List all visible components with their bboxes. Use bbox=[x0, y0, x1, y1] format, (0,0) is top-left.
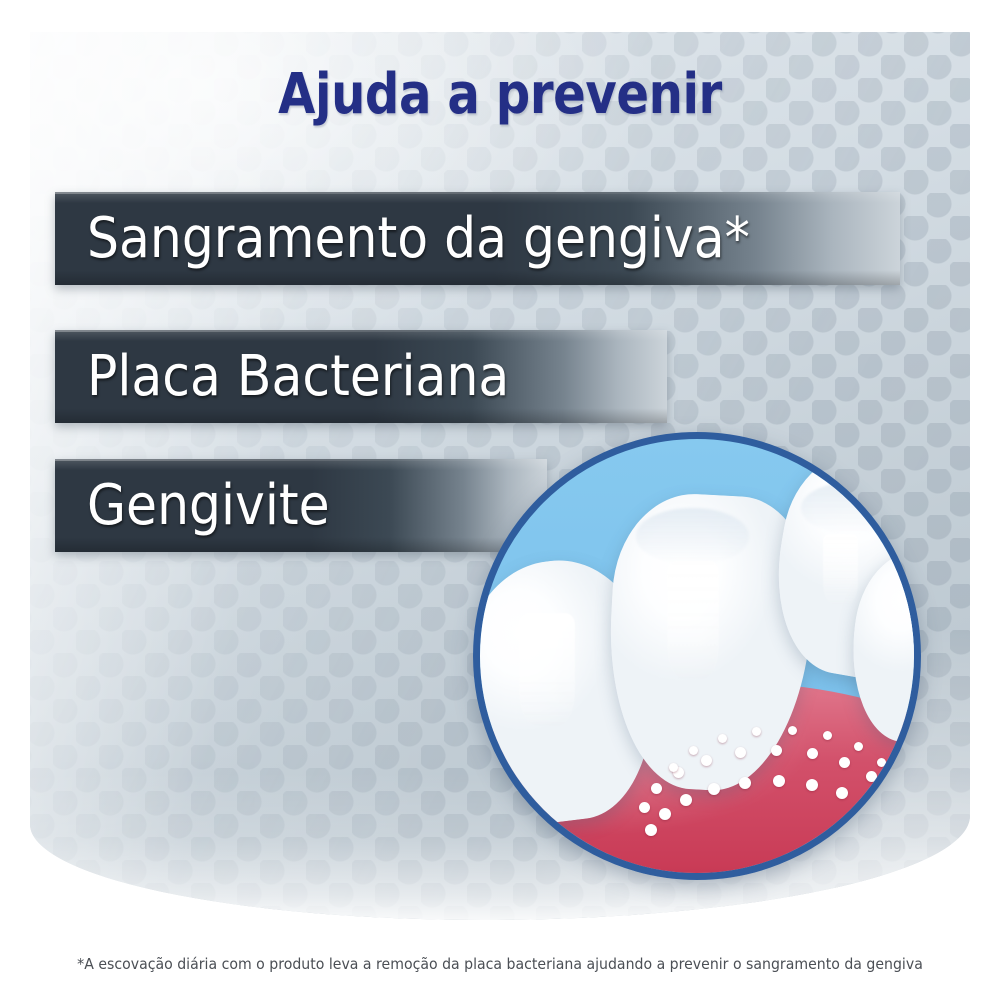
plaque-dot bbox=[659, 808, 671, 820]
plaque-dot bbox=[669, 763, 678, 772]
tooth-gloss-highlight bbox=[823, 534, 858, 603]
benefit-bar-bleeding-gums: Sangramento da gengiva* bbox=[55, 192, 900, 285]
plaque-dot bbox=[680, 794, 692, 806]
plaque-dot bbox=[877, 758, 886, 767]
legal-footnote: *A escovação diária com o produto leva a… bbox=[30, 955, 970, 973]
plaque-dot bbox=[639, 802, 650, 813]
benefit-bar-label: Placa Bacteriana bbox=[87, 349, 509, 405]
page-title: Ajuda a prevenir bbox=[70, 62, 930, 127]
tooth-gum-illustration bbox=[473, 432, 921, 880]
plaque-dot bbox=[862, 799, 874, 811]
plaque-dot bbox=[718, 734, 727, 743]
advertisement-canvas: Ajuda a prevenir Sangramento da gengiva*… bbox=[0, 0, 1000, 1000]
benefit-bar-gingivitis: Gengivite bbox=[55, 459, 547, 552]
plaque-dot bbox=[806, 779, 818, 791]
tooth-cusp-highlight bbox=[636, 508, 749, 564]
plaque-dot bbox=[890, 777, 899, 786]
illustration-scene bbox=[480, 439, 914, 873]
plaque-dot bbox=[701, 755, 712, 766]
plaque-dot bbox=[708, 783, 720, 795]
plaque-dot bbox=[752, 727, 761, 736]
plaque-dot bbox=[771, 745, 782, 756]
plaque-dot bbox=[866, 771, 877, 782]
plaque-dot bbox=[735, 747, 746, 758]
benefit-bar-plaque: Placa Bacteriana bbox=[55, 330, 667, 423]
plaque-dot bbox=[880, 814, 892, 826]
benefit-bar-label: Sangramento da gengiva* bbox=[87, 211, 750, 267]
tooth-gloss-highlight bbox=[519, 613, 575, 726]
benefit-bar-label: Gengivite bbox=[87, 478, 330, 534]
plaque-dot bbox=[895, 807, 906, 818]
tooth-gloss-highlight bbox=[667, 561, 719, 678]
